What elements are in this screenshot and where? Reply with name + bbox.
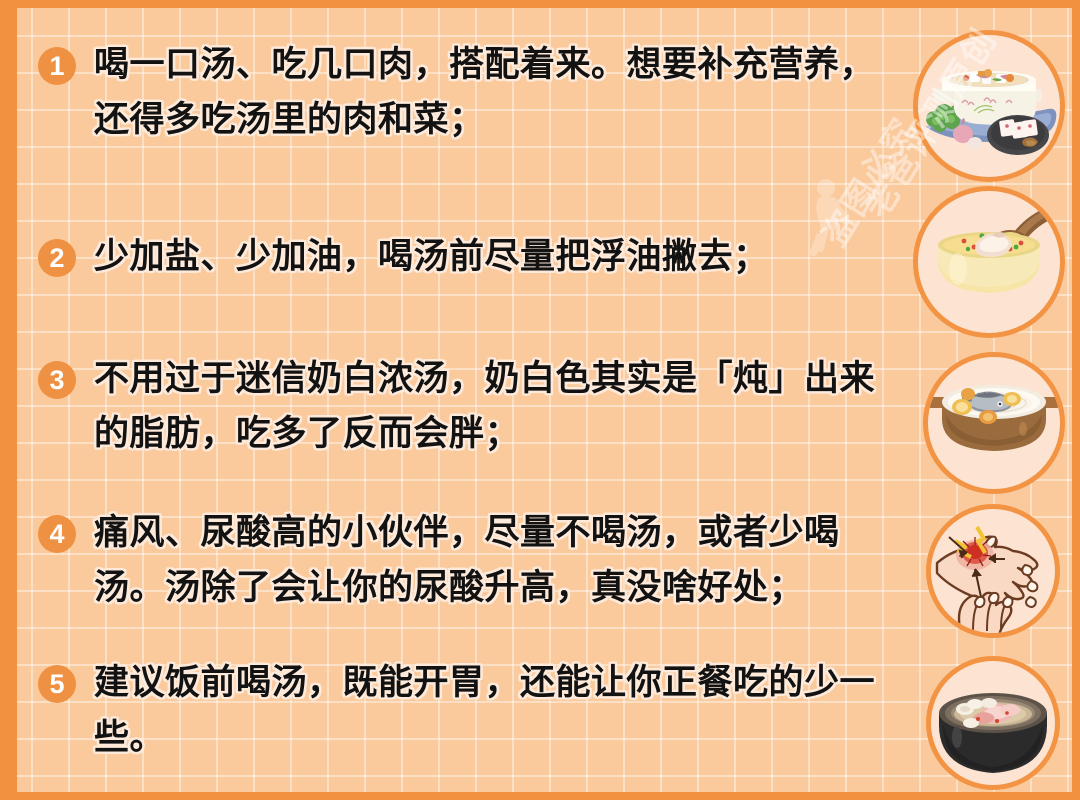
tip-text: 不用过于迷信奶白浓汤，奶白色其实是「炖」出来的脂肪，吃多了反而会胖；	[94, 352, 904, 462]
illustration-ring-4	[926, 504, 1060, 638]
illustration-ring-3	[923, 352, 1065, 494]
tip-text: 痛风、尿酸高的小伙伴，尽量不喝汤，或者少喝汤。汤除了会让你的尿酸升高，真没啥好处…	[94, 506, 904, 616]
tip-number-badge: 1	[38, 47, 76, 85]
illustration-ring-5	[926, 656, 1060, 790]
illustration-gout-hands	[926, 504, 1060, 638]
illustration-soup-pot	[913, 30, 1065, 182]
list-item: 3 不用过于迷信奶白浓汤，奶白色其实是「炖」出来的脂肪，吃多了反而会胖；	[8, 352, 1072, 462]
tip-number-badge: 2	[38, 239, 76, 277]
tip-number-badge: 4	[38, 515, 76, 553]
infographic-poster: 老爸评测原创 盗图必究	[0, 0, 1080, 800]
list-item: 5 建议饭前喝汤，既能开胃，还能让你正餐吃的少一些。	[8, 656, 1072, 766]
illustration-ring-1	[913, 30, 1065, 182]
tip-number-badge: 3	[38, 361, 76, 399]
tip-text: 建议饭前喝汤，既能开胃，还能让你正餐吃的少一些。	[94, 656, 894, 766]
illustration-ring-2	[913, 186, 1065, 338]
tip-text: 少加盐、少加油，喝汤前尽量把浮油撇去；	[94, 230, 884, 285]
illustration-soup-bowl-ladle	[913, 186, 1065, 338]
tip-number-badge: 5	[38, 665, 76, 703]
list-item: 4 痛风、尿酸高的小伙伴，尽量不喝汤，或者少喝汤。汤除了会让你的尿酸升高，真没啥…	[8, 506, 1072, 616]
illustration-stone-bowl-soup	[926, 656, 1060, 790]
illustration-fish-soup-pot	[923, 352, 1065, 494]
poster-card-background: 老爸评测原创 盗图必究	[8, 8, 1072, 792]
tip-text: 喝一口汤、吃几口肉，搭配着来。想要补充营养，还得多吃汤里的肉和菜；	[94, 38, 884, 148]
